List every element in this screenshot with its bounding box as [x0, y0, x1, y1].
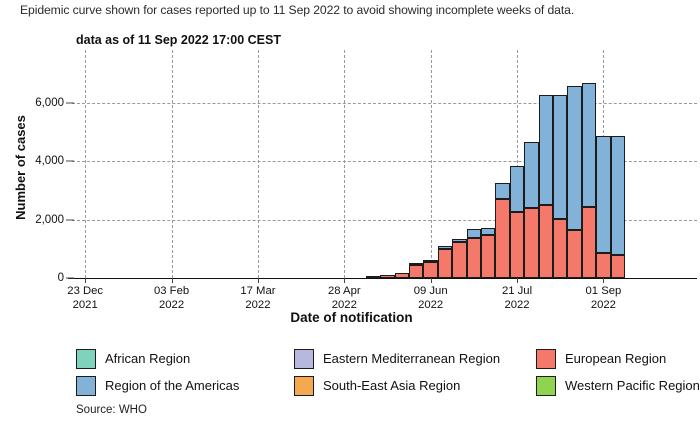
bar-segment: [481, 228, 495, 234]
gridline-vertical: [344, 50, 345, 278]
bar-segment: [582, 83, 596, 207]
gridline-vertical: [258, 50, 259, 278]
bar-stack: [510, 166, 524, 278]
legend-item-label: European Region: [565, 351, 666, 366]
bar-segment: [510, 166, 524, 213]
bar-segment: [553, 219, 567, 278]
x-axis-tick-date: 23 Dec: [67, 285, 103, 299]
legend-item[interactable]: Eastern Mediterranean Region: [294, 349, 536, 369]
bar-segment: [481, 235, 495, 278]
bar-segment: [524, 208, 538, 278]
chart-subtitle: data as of 11 Sep 2022 17:00 CEST: [76, 33, 281, 47]
x-axis-tick-label: 21 Jul2022: [502, 285, 532, 312]
bar-stack: [438, 246, 452, 278]
bar-segment: [611, 255, 625, 278]
y-axis-title: Number of cases: [10, 56, 30, 278]
bar-stack: [409, 265, 423, 278]
bar-segment: [567, 230, 581, 278]
bar-segment: [423, 260, 437, 262]
x-axis-tick-mark: [344, 278, 345, 283]
y-axis-tick-mark: [66, 278, 74, 279]
legend-swatch-icon: [536, 349, 556, 369]
x-axis-tick-label: 09 Jun2022: [414, 285, 448, 312]
legend-item[interactable]: Region of the Americas: [76, 376, 294, 396]
bar-stack: [495, 183, 509, 278]
bar-stack: [452, 239, 466, 278]
bar-stack: [582, 83, 596, 278]
y-axis-tick-label: 6,000: [35, 97, 64, 109]
y-axis-tick-label: 2,000: [35, 214, 64, 226]
legend-swatch-icon: [294, 349, 314, 369]
x-axis-tick-label: 03 Feb2022: [154, 285, 189, 312]
bar-stack: [539, 95, 553, 278]
chart-legend: African RegionEastern Mediterranean Regi…: [76, 345, 676, 399]
x-axis-title: Date of notification: [78, 310, 625, 325]
bar-segment: [452, 242, 466, 278]
x-axis-tick-date: 28 Apr: [328, 285, 361, 299]
incomplete-weeks-note: Epidemic curve shown for cases reported …: [20, 3, 574, 17]
bar-stack: [481, 228, 495, 278]
gridline-vertical: [172, 50, 173, 278]
bar-stack: [611, 136, 625, 278]
gridline-vertical: [85, 50, 86, 278]
legend-item-label: South-East Asia Region: [323, 378, 460, 393]
bar-segment: [611, 136, 625, 255]
legend-item-label: Western Pacific Region: [565, 378, 700, 393]
bar-segment: [582, 207, 596, 278]
bar-stack: [524, 142, 538, 278]
y-axis-tick-mark: [66, 219, 74, 220]
x-axis-tick-label: 28 Apr2022: [328, 285, 361, 312]
bar-segment: [510, 212, 524, 278]
x-axis-tick-date: 17 Mar: [240, 285, 275, 299]
bar-segment: [423, 262, 437, 278]
bar-segment: [596, 136, 610, 253]
y-axis-tick-mark: [66, 161, 74, 162]
bar-segment: [495, 199, 509, 278]
source-note: Source: WHO: [76, 404, 147, 416]
bar-segment: [467, 238, 481, 278]
y-axis-tick-mark: [66, 102, 74, 103]
x-axis-tick-mark: [172, 278, 173, 283]
bar-segment: [553, 95, 567, 219]
legend-item[interactable]: South-East Asia Region: [294, 376, 536, 396]
bar-stack: [567, 86, 581, 278]
chart-plot-area: 02,0004,0006,000 23 Dec202103 Feb202217 …: [78, 56, 625, 278]
x-axis-tick-label: 01 Sep2022: [586, 285, 622, 312]
legend-item-label: African Region: [105, 351, 190, 366]
y-axis-tick-label: 4,000: [35, 155, 64, 167]
bar-segment: [452, 239, 466, 243]
legend-item[interactable]: European Region: [536, 349, 700, 369]
x-axis-tick-date: 09 Jun: [414, 285, 448, 299]
x-axis-tick-date: 21 Jul: [502, 285, 532, 299]
bar-stack: [423, 260, 437, 278]
legend-swatch-icon: [76, 376, 96, 396]
legend-item-label: Region of the Americas: [105, 378, 239, 393]
x-axis-tick-label: 23 Dec2021: [67, 285, 103, 312]
bar-segment: [409, 263, 423, 265]
bar-segment: [438, 249, 452, 278]
legend-swatch-icon: [76, 349, 96, 369]
x-axis-tick-mark: [431, 278, 432, 283]
legend-item[interactable]: Western Pacific Region: [536, 376, 700, 396]
gridline-vertical: [431, 50, 432, 278]
y-axis-title-text: Number of cases: [13, 115, 28, 220]
legend-item[interactable]: African Region: [76, 349, 294, 369]
legend-swatch-icon: [294, 376, 314, 396]
bar-segment: [539, 205, 553, 278]
bar-segment: [524, 142, 538, 208]
y-axis-tick-label: 0: [58, 272, 64, 284]
legend-item-label: Eastern Mediterranean Region: [323, 351, 500, 366]
bar-segment: [539, 95, 553, 205]
bar-segment: [495, 183, 509, 199]
x-axis-tick-mark: [603, 278, 604, 283]
x-axis-tick-label: 17 Mar2022: [240, 285, 275, 312]
bar-segment: [438, 246, 452, 249]
bar-stack: [596, 136, 610, 278]
x-axis-tick-date: 01 Sep: [586, 285, 622, 299]
bar-stack: [553, 95, 567, 278]
bar-segment: [567, 86, 581, 231]
x-axis-tick-date: 03 Feb: [154, 285, 189, 299]
legend-swatch-icon: [536, 376, 556, 396]
x-axis-tick-mark: [85, 278, 86, 283]
bar-segment: [596, 253, 610, 278]
bar-segment: [467, 229, 481, 238]
bar-stack: [467, 229, 481, 278]
x-axis-tick-mark: [517, 278, 518, 283]
x-axis-tick-mark: [258, 278, 259, 283]
bar-segment: [409, 265, 423, 278]
